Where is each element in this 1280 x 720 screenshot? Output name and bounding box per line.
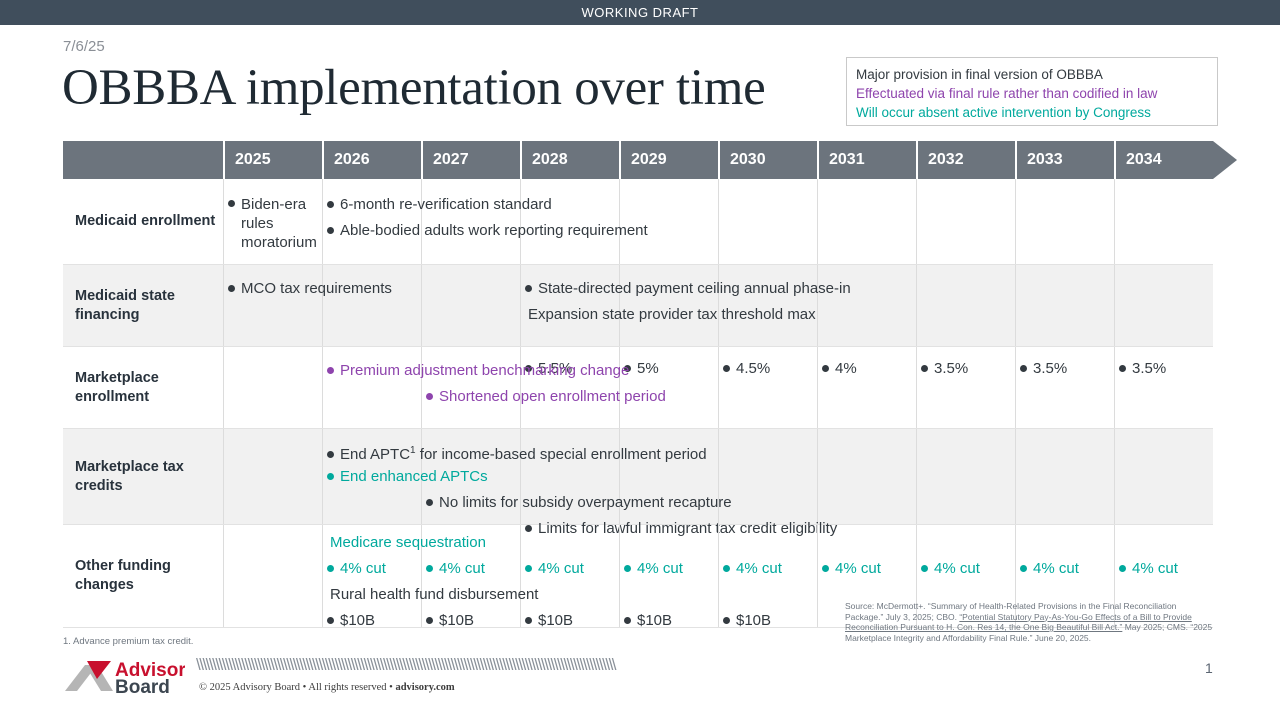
logo-text-board: Board bbox=[115, 677, 170, 697]
timeline-item[interactable]: $10B bbox=[624, 611, 672, 630]
row-body: End APTC1 for income-based special enrol… bbox=[223, 429, 1213, 524]
column-rule bbox=[1114, 429, 1213, 524]
timeline-item-label: Medicare sequestration bbox=[330, 534, 486, 551]
timeline-item-label: Able-bodied adults work reporting requir… bbox=[340, 222, 648, 239]
footer-hatch-rule: \\\\\\\\\\\\\\\\\\\\\\\\\\\\\\\\\\\\\\\\… bbox=[196, 657, 1176, 673]
bullet-dot-icon bbox=[1119, 565, 1126, 572]
timeline-row: Medicaid enrollmentBiden-era rules morat… bbox=[63, 179, 1213, 265]
column-rule bbox=[322, 265, 421, 346]
timeline-item-label: 4% cut bbox=[835, 560, 881, 577]
slide: WORKING DRAFT 7/6/25 OBBBA implementatio… bbox=[0, 0, 1280, 720]
timeline-item[interactable]: Medicare sequestration bbox=[330, 533, 486, 552]
legend-box: Major provision in final version of OBBB… bbox=[846, 57, 1218, 126]
footnote: 1. Advance premium tax credit. bbox=[63, 636, 193, 647]
timeline-item[interactable]: State-directed payment ceiling annual ph… bbox=[525, 279, 851, 298]
column-rule bbox=[322, 347, 421, 428]
timeline-item-label: Premium adjustment benchmarking change bbox=[340, 362, 629, 379]
bullet-dot-icon bbox=[525, 617, 532, 624]
bullet-dot-icon bbox=[327, 473, 334, 480]
timeline-item[interactable]: $10B bbox=[723, 611, 771, 630]
advisory-board-logo: Advisory Board bbox=[63, 657, 185, 697]
timeline-row: Medicaid state financingMCO tax requirem… bbox=[63, 265, 1213, 347]
row-label: Other funding changes bbox=[63, 525, 223, 627]
timeline-item[interactable]: $10B bbox=[327, 611, 375, 630]
timeline-item[interactable]: 4% cut bbox=[723, 559, 782, 578]
timeline-item[interactable]: End enhanced APTCs bbox=[327, 467, 488, 486]
timeline-item[interactable]: MCO tax requirements bbox=[228, 279, 392, 298]
timeline-year-2032[interactable]: 2032 bbox=[916, 141, 1015, 179]
column-rule bbox=[916, 265, 1015, 346]
timeline-item-label: Expansion state provider tax threshold m… bbox=[528, 306, 816, 323]
timeline-year-2030[interactable]: 2030 bbox=[718, 141, 817, 179]
bullet-dot-icon bbox=[327, 451, 334, 458]
column-rule bbox=[718, 179, 817, 264]
timeline-item-label: End enhanced APTCs bbox=[340, 468, 488, 485]
timeline-year-cells: 2025202620272028202920302031203220332034 bbox=[63, 141, 1213, 179]
legend-item-final-rule: Effectuated via final rule rather than c… bbox=[856, 84, 1208, 103]
timeline-rows: Medicaid enrollmentBiden-era rules morat… bbox=[63, 179, 1213, 628]
timeline-item[interactable]: Biden-era rules moratorium bbox=[228, 195, 320, 252]
column-rule bbox=[223, 347, 322, 428]
timeline-item-label: MCO tax requirements bbox=[241, 280, 392, 297]
timeline-item-label: Rural health fund disbursement bbox=[330, 586, 538, 603]
column-rule bbox=[1015, 347, 1114, 428]
timeline-year-2034[interactable]: 2034 bbox=[1114, 141, 1213, 179]
timeline-item-label: $10B bbox=[538, 612, 573, 629]
timeline-item[interactable]: Shortened open enrollment period bbox=[426, 387, 666, 406]
timeline-item[interactable]: 4% cut bbox=[426, 559, 485, 578]
copyright-text: © 2025 Advisory Board • All rights reser… bbox=[199, 682, 395, 693]
bullet-dot-icon bbox=[327, 367, 334, 374]
column-rules bbox=[223, 347, 1213, 428]
row-label: Medicaid state financing bbox=[63, 265, 223, 346]
working-draft-banner: WORKING DRAFT bbox=[0, 0, 1280, 25]
timeline-year-2028[interactable]: 2028 bbox=[520, 141, 619, 179]
column-rule bbox=[916, 347, 1015, 428]
timeline-item-label: 4% cut bbox=[340, 560, 386, 577]
bullet-dot-icon bbox=[327, 227, 334, 234]
timeline-header-spacer bbox=[63, 141, 223, 179]
bullet-dot-icon bbox=[921, 565, 928, 572]
column-rule bbox=[817, 179, 916, 264]
timeline-item[interactable]: 4% cut bbox=[822, 559, 881, 578]
timeline-header: 2025202620272028202920302031203220332034 bbox=[63, 141, 1213, 179]
timeline-item[interactable]: Rural health fund disbursement bbox=[330, 585, 538, 604]
bullet-dot-icon bbox=[327, 617, 334, 624]
row-body: Premium adjustment benchmarking changeSh… bbox=[223, 347, 1213, 428]
timeline-item-label: 4% cut bbox=[1033, 560, 1079, 577]
column-rule bbox=[223, 429, 322, 524]
column-rule bbox=[223, 265, 322, 346]
timeline-item[interactable]: 4% cut bbox=[921, 559, 980, 578]
page-title: OBBBA implementation over time bbox=[62, 59, 766, 117]
bullet-dot-icon bbox=[624, 565, 631, 572]
footnote-marker: 1 bbox=[410, 445, 416, 456]
bullet-dot-icon bbox=[327, 565, 334, 572]
column-rule bbox=[817, 265, 916, 346]
timeline-item[interactable]: Expansion state provider tax threshold m… bbox=[528, 305, 816, 324]
timeline-item[interactable]: 4% cut bbox=[624, 559, 683, 578]
timeline-arrow-icon bbox=[1213, 141, 1237, 179]
column-rule bbox=[718, 347, 817, 428]
timeline-year-2033[interactable]: 2033 bbox=[1015, 141, 1114, 179]
timeline-item[interactable]: No limits for subsidy overpayment recapt… bbox=[426, 493, 732, 512]
copyright-line: © 2025 Advisory Board • All rights reser… bbox=[199, 682, 455, 693]
timeline-item[interactable]: 4% cut bbox=[525, 559, 584, 578]
bullet-dot-icon bbox=[624, 617, 631, 624]
bullet-dot-icon bbox=[1020, 565, 1027, 572]
timeline-year-2031[interactable]: 2031 bbox=[817, 141, 916, 179]
timeline-item[interactable]: Premium adjustment benchmarking change bbox=[327, 361, 629, 380]
row-body: Biden-era rules moratorium6-month re-ver… bbox=[223, 179, 1213, 264]
timeline-item-label: 6-month re-verification standard bbox=[340, 196, 552, 213]
page-number: 1 bbox=[1205, 660, 1213, 676]
bullet-dot-icon bbox=[426, 617, 433, 624]
timeline-item-label: Biden-era rules moratorium bbox=[241, 195, 313, 252]
timeline-item-label: 4% cut bbox=[736, 560, 782, 577]
legend-item-absent-intervention: Will occur absent active intervention by… bbox=[856, 103, 1208, 122]
working-draft-label: WORKING DRAFT bbox=[582, 5, 699, 20]
legend-item-major-provision: Major provision in final version of OBBB… bbox=[856, 65, 1208, 84]
column-rule bbox=[817, 429, 916, 524]
copyright-website: advisory.com bbox=[395, 682, 454, 693]
timeline-item-label: $10B bbox=[340, 612, 375, 629]
bullet-dot-icon bbox=[426, 393, 433, 400]
column-rule bbox=[1015, 179, 1114, 264]
timeline-row: Marketplace tax creditsEnd APTC1 for inc… bbox=[63, 429, 1213, 525]
column-rule bbox=[916, 429, 1015, 524]
bullet-dot-icon bbox=[723, 617, 730, 624]
logo-mark-icon: Advisory Board bbox=[63, 657, 185, 697]
column-rule bbox=[1114, 265, 1213, 346]
bullet-dot-icon bbox=[327, 201, 334, 208]
bullet-dot-icon bbox=[525, 285, 532, 292]
timeline-item-label: $10B bbox=[736, 612, 771, 629]
bullet-dot-icon bbox=[822, 565, 829, 572]
bullet-dot-icon bbox=[525, 565, 532, 572]
timeline-year-2027[interactable]: 2027 bbox=[421, 141, 520, 179]
column-rule bbox=[223, 525, 322, 627]
timeline-item-label: No limits for subsidy overpayment recapt… bbox=[439, 494, 732, 511]
timeline-item[interactable]: 6-month re-verification standard bbox=[327, 195, 552, 214]
row-body: MCO tax requirementsState-directed payme… bbox=[223, 265, 1213, 346]
bullet-dot-icon bbox=[228, 285, 235, 292]
timeline-year-2029[interactable]: 2029 bbox=[619, 141, 718, 179]
source-citation: Source: McDermott+. “Summary of Health-R… bbox=[845, 601, 1215, 643]
timeline-item-label: 4% cut bbox=[1132, 560, 1178, 577]
timeline-row: Marketplace enrollmentPremium adjustment… bbox=[63, 347, 1213, 429]
row-label: Marketplace enrollment bbox=[63, 347, 223, 428]
timeline-table: 2025202620272028202920302031203220332034… bbox=[63, 141, 1213, 628]
slide-date: 7/6/25 bbox=[63, 38, 105, 55]
column-rule bbox=[421, 265, 520, 346]
bullet-dot-icon bbox=[228, 200, 235, 207]
column-rule bbox=[1015, 265, 1114, 346]
timeline-item[interactable]: 4% cut bbox=[1020, 559, 1079, 578]
column-rule bbox=[718, 429, 817, 524]
timeline-item-label: State-directed payment ceiling annual ph… bbox=[538, 280, 851, 297]
timeline-item-label: $10B bbox=[637, 612, 672, 629]
timeline-item-label: Shortened open enrollment period bbox=[439, 388, 666, 405]
timeline-item-label: 4% cut bbox=[439, 560, 485, 577]
bullet-dot-icon bbox=[723, 565, 730, 572]
timeline-year-2026[interactable]: 2026 bbox=[322, 141, 421, 179]
timeline-item-label: $10B bbox=[439, 612, 474, 629]
timeline-item-label: 4% cut bbox=[637, 560, 683, 577]
timeline-item[interactable]: Able-bodied adults work reporting requir… bbox=[327, 221, 648, 240]
bullet-dot-icon bbox=[426, 565, 433, 572]
timeline-item[interactable]: 4% cut bbox=[327, 559, 386, 578]
row-label: Medicaid enrollment bbox=[63, 179, 223, 264]
column-rule bbox=[1015, 429, 1114, 524]
row-label: Marketplace tax credits bbox=[63, 429, 223, 524]
column-rule bbox=[1114, 179, 1213, 264]
column-rule bbox=[1114, 347, 1213, 428]
timeline-item-label: 4% cut bbox=[934, 560, 980, 577]
timeline-year-2025[interactable]: 2025 bbox=[223, 141, 322, 179]
timeline-item[interactable]: $10B bbox=[525, 611, 573, 630]
bullet-dot-icon bbox=[426, 499, 433, 506]
timeline-item-label: End APTC1 for income-based special enrol… bbox=[340, 446, 707, 463]
timeline-item[interactable]: End APTC1 for income-based special enrol… bbox=[327, 441, 707, 464]
column-rule bbox=[817, 347, 916, 428]
timeline-item[interactable]: $10B bbox=[426, 611, 474, 630]
timeline-item-label: 4% cut bbox=[538, 560, 584, 577]
column-rule bbox=[916, 179, 1015, 264]
timeline-item[interactable]: 4% cut bbox=[1119, 559, 1178, 578]
